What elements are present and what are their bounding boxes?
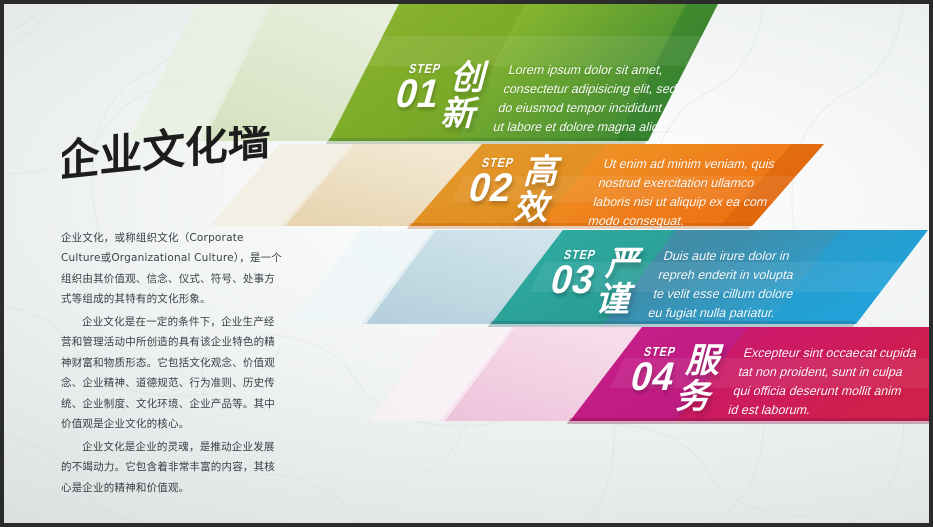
body-copy: 企业文化，或称组织文化（Corporate Culture或Organizati… bbox=[61, 228, 283, 500]
heading-cn-04-char-2: 务 bbox=[673, 379, 717, 415]
heading-cn-02-char-2: 效 bbox=[511, 190, 555, 226]
step-number-02: 02 bbox=[464, 169, 518, 207]
heading-cn-01-char-1: 创 bbox=[448, 60, 492, 96]
slide-page: STEP 01 创 新 Lorem ipsum dolor sit amet, … bbox=[4, 4, 929, 523]
step-block-01: STEP 01 bbox=[389, 62, 451, 113]
heading-cn-03-char-1: 严 bbox=[603, 246, 647, 282]
body-paragraph-1: 企业文化，或称组织文化（Corporate Culture或Organizati… bbox=[61, 228, 283, 310]
step-block-04: STEP 04 bbox=[624, 345, 686, 396]
body-paragraph-2: 企业文化是在一定的条件下，企业生产经营和管理活动中所创造的具有该企业特色的精神财… bbox=[61, 312, 283, 435]
heading-cn-03-char-2: 谨 bbox=[593, 282, 637, 318]
banner-body-03: Duis aute irure dolor in repreh enderit … bbox=[646, 247, 866, 323]
page-title-text: 企业文化墙 bbox=[62, 126, 271, 188]
page-title: 企业文化墙 bbox=[62, 126, 302, 190]
banner-body-01: Lorem ipsum dolor sit amet, consectetur … bbox=[491, 61, 711, 137]
slide-canvas: STEP 01 创 新 Lorem ipsum dolor sit amet, … bbox=[0, 0, 933, 527]
step-number-04: 04 bbox=[626, 358, 680, 396]
step-block-02: STEP 02 bbox=[462, 156, 524, 207]
heading-cn-01-char-2: 新 bbox=[438, 96, 482, 132]
step-number-01: 01 bbox=[391, 75, 445, 113]
banner-body-02: Ut enim ad minim veniam, quis nostrud ex… bbox=[586, 155, 806, 231]
step-block-03: STEP 03 bbox=[544, 248, 606, 299]
body-paragraph-3: 企业文化是企业的灵魂，是推动企业发展的不竭动力。它包含着非常丰富的内容，其核心是… bbox=[61, 437, 283, 498]
heading-cn-04-char-1: 服 bbox=[683, 343, 727, 379]
banner-body-04: Excepteur sint occaecat cupida tat non p… bbox=[726, 344, 929, 420]
heading-cn-02-char-1: 高 bbox=[521, 154, 565, 190]
step-number-03: 03 bbox=[546, 261, 600, 299]
